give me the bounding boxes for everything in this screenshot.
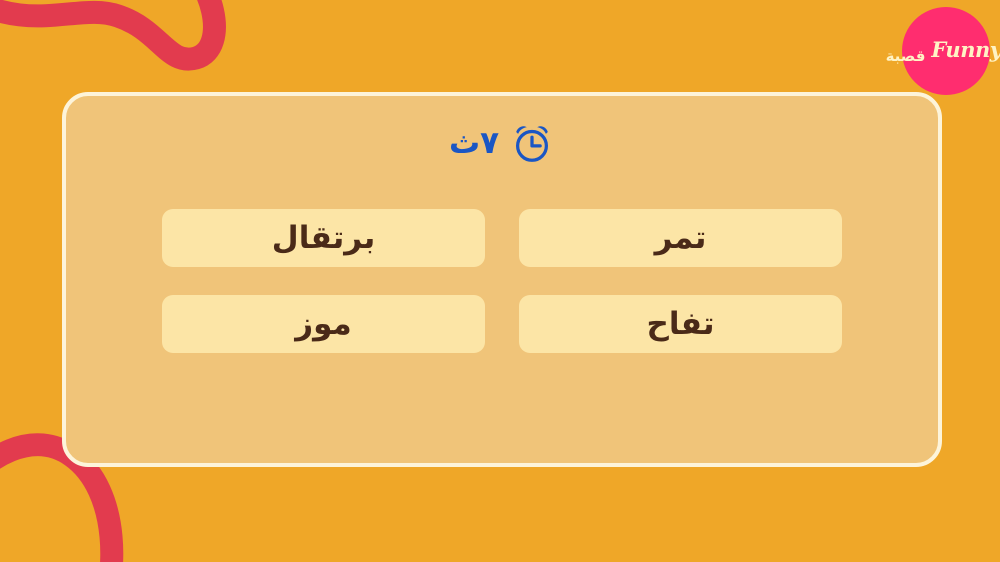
answer-option-3[interactable]: تفاح xyxy=(519,295,842,353)
answer-option-1[interactable]: تمر xyxy=(519,209,842,267)
answer-option-label: برتقال xyxy=(272,223,375,254)
answer-options: تمر برتقال تفاح موز xyxy=(66,209,938,353)
brand-name-arabic: قصبة xyxy=(886,49,926,64)
alarm-clock-icon xyxy=(509,120,555,166)
squiggle-top-left-icon xyxy=(0,0,214,59)
answer-option-label: تفاح xyxy=(647,309,715,340)
answer-option-label: تمر xyxy=(655,223,707,254)
brand-logo: Funny قصبة xyxy=(902,7,990,95)
brand-logo-inner: Funny قصبة xyxy=(891,39,1000,60)
answer-option-2[interactable]: برتقال xyxy=(162,209,485,267)
answer-option-label: موز xyxy=(295,309,351,340)
timer-value: ٧ث xyxy=(449,128,499,159)
quiz-card: ٧ث تمر برتقال تفاح موز xyxy=(62,92,942,467)
timer: ٧ث xyxy=(66,120,938,166)
brand-name-latin: Funny xyxy=(931,39,1000,60)
answer-option-4[interactable]: موز xyxy=(162,295,485,353)
